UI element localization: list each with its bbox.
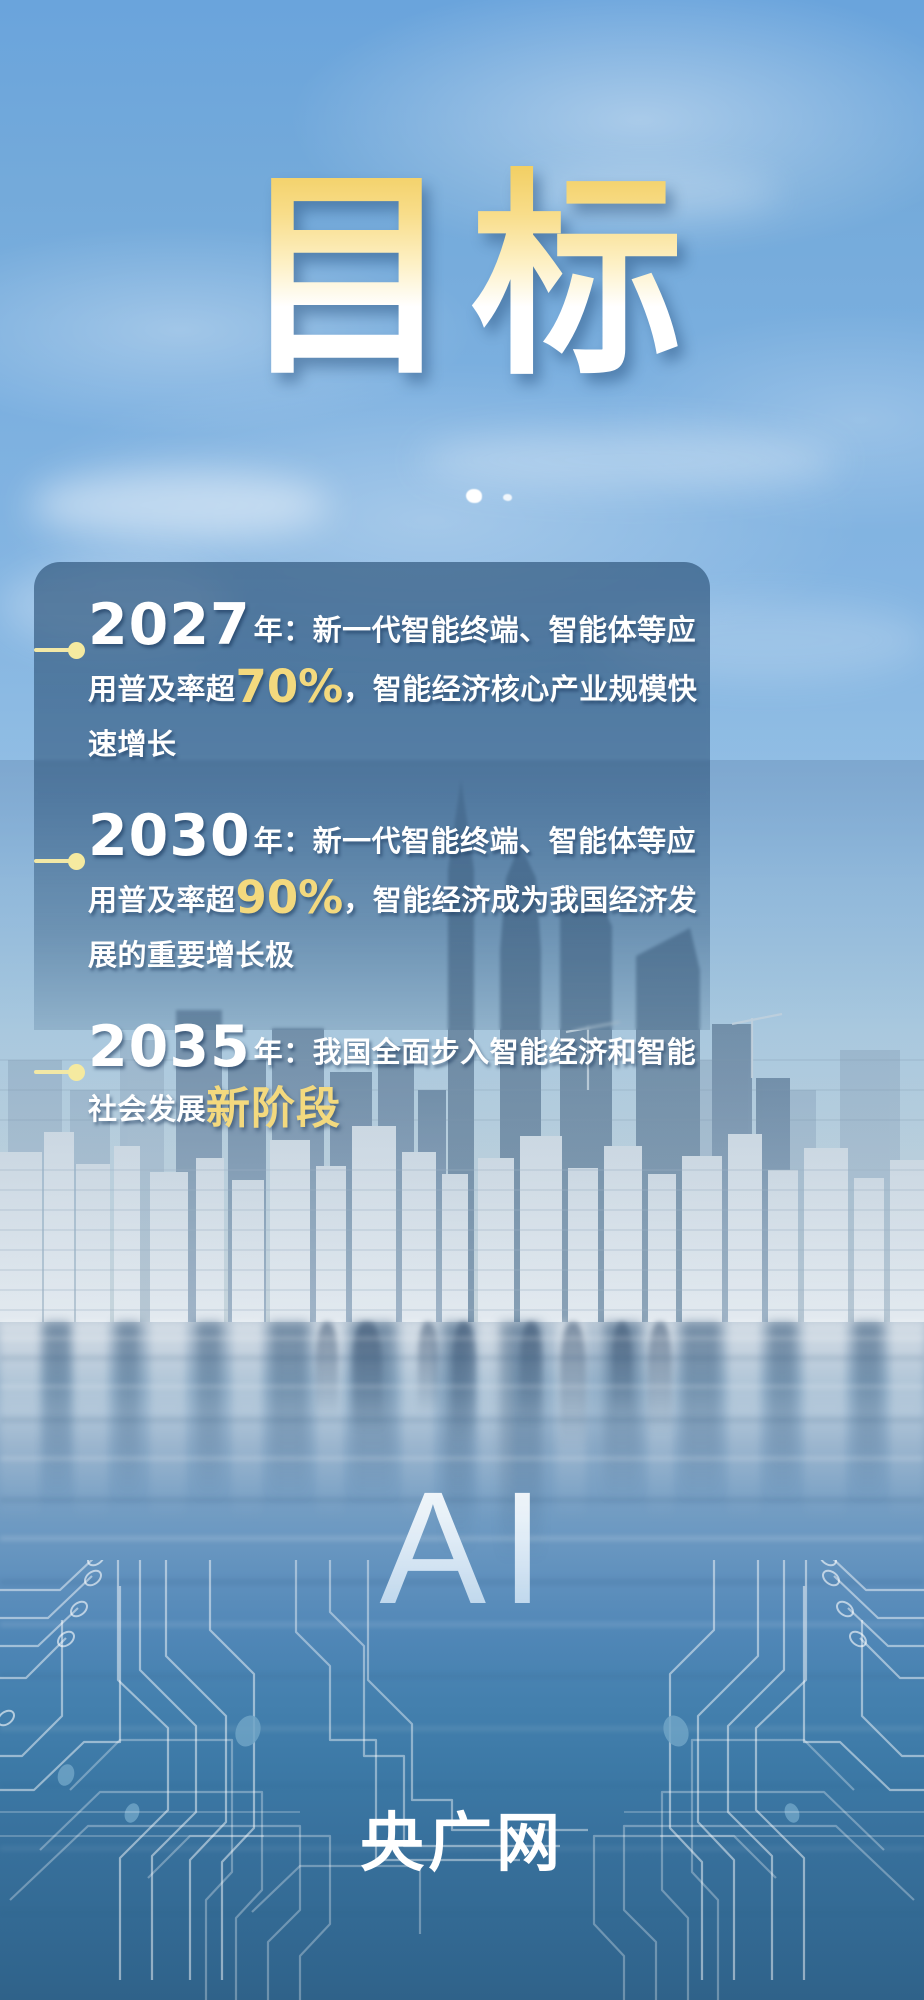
goal-year: 2027 — [88, 592, 251, 658]
goal-year: 2030 — [88, 803, 251, 869]
goal-year: 2035 — [88, 1014, 251, 1080]
water-reflection-background — [0, 1322, 924, 2000]
cloud-wisp — [520, 170, 780, 216]
cloud-wisp — [30, 470, 330, 540]
cloud-speck — [503, 494, 512, 501]
goal-highlight-phrase: 新阶段 — [206, 1084, 341, 1133]
cloud-speck — [466, 489, 482, 503]
list-item: 2030年：新一代智能终端、智能体等应用普及率超90%，智能经济成为我国经济发展… — [34, 809, 724, 984]
goal-text: 2035年：我国全面步入智能经济和智能社会发展新阶段 — [88, 1020, 724, 1138]
cloud-wisp — [420, 430, 840, 490]
list-item: 2027年：新一代智能终端、智能体等应用普及率超70%，智能经济核心产业规模快速… — [34, 598, 724, 773]
goal-highlight-number: 90% — [236, 871, 344, 924]
goal-text: 2030年：新一代智能终端、智能体等应用普及率超90%，智能经济成为我国经济发展… — [88, 809, 724, 984]
list-item: 2035年：我国全面步入智能经济和智能社会发展新阶段 — [34, 1020, 724, 1138]
goals-list: 2027年：新一代智能终端、智能体等应用普及率超70%，智能经济核心产业规模快速… — [34, 598, 724, 1138]
line-dot-bullet-icon — [34, 1064, 94, 1080]
line-dot-bullet-icon — [34, 853, 94, 869]
goal-text: 2027年：新一代智能终端、智能体等应用普及率超70%，智能经济核心产业规模快速… — [88, 598, 724, 773]
goal-highlight-number: 70% — [236, 660, 344, 713]
line-dot-bullet-icon — [34, 642, 94, 658]
poster-root: 目标 2027年：新一代智能终端、智能体等应用普及率超70%，智能经济核心产业规… — [0, 0, 924, 2000]
